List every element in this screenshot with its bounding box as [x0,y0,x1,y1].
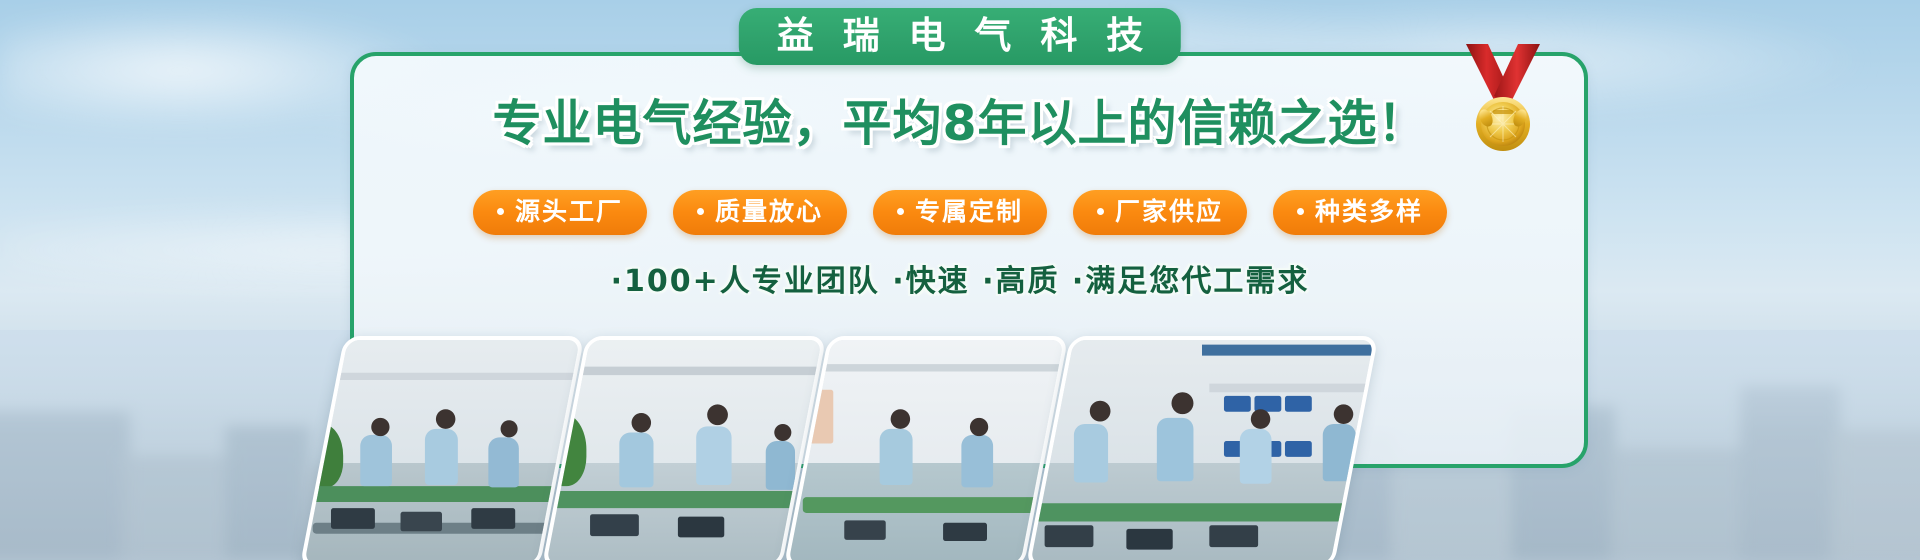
feature-pill-variety[interactable]: 种类多样 [1273,190,1447,235]
subtitle-text: ·100+人专业团队 ·快速 ·高质 ·满足您代工需求 [611,265,1310,298]
bullet-dot-icon [697,208,704,215]
bullet-dot-icon [1297,208,1304,215]
gold-medal-icon [1460,44,1546,156]
promotional-banner: 益 瑞 电 气 科 技 专业电气经验，平均8年以上的信赖之选！ 源头工厂 质量放… [0,0,1920,560]
company-name-text: 益 瑞 电 气 科 技 [769,17,1151,54]
feature-pill-label: 专属定制 [914,199,1023,224]
bullet-dot-icon [897,208,904,215]
company-name-badge: 益 瑞 电 气 科 技 [739,8,1181,65]
feature-pill-label: 源头工厂 [514,199,623,224]
headline-row: 专业电气经验，平均8年以上的信赖之选！ [0,98,1920,151]
feature-pill-manufacturer-supply[interactable]: 厂家供应 [1073,190,1247,235]
factory-photo-assembly-line-1[interactable] [299,336,584,560]
feature-pill-custom-made[interactable]: 专属定制 [873,190,1047,235]
factory-photo-workshop-3[interactable] [783,336,1068,560]
feature-pill-label: 种类多样 [1314,199,1423,224]
feature-pill-list: 源头工厂 质量放心 专属定制 厂家供应 种类多样 [0,190,1920,235]
factory-photo-production-4[interactable] [1025,336,1378,560]
feature-pill-quality-assured[interactable]: 质量放心 [673,190,847,235]
feature-pill-source-factory[interactable]: 源头工厂 [473,190,647,235]
bullet-dot-icon [1097,208,1104,215]
factory-photo-assembly-line-2[interactable] [541,336,826,560]
factory-photo-strip [316,336,1606,560]
subtitle-row: ·100+人专业团队 ·快速 ·高质 ·满足您代工需求 [0,265,1920,298]
feature-pill-label: 厂家供应 [1114,199,1223,224]
bullet-dot-icon [497,208,504,215]
feature-pill-label: 质量放心 [714,199,823,224]
headline-text: 专业电气经验，平均8年以上的信赖之选！ [492,98,1427,151]
